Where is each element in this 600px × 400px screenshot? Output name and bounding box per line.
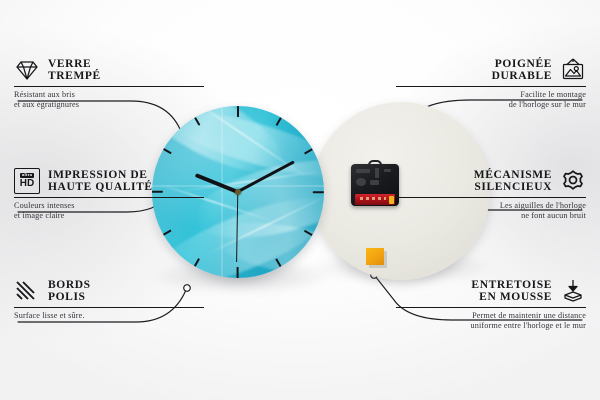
feature-header: VERRE TREMPÉ <box>14 57 204 83</box>
feature-header: ultra HD IMPRESSION DE HAUTE QUALITÉ <box>14 168 204 194</box>
gear-icon <box>560 168 586 194</box>
feature-entretoise-en-mousse: ENTRETOISE EN MOUSSE Permet de maintenir… <box>396 278 586 331</box>
feature-divider <box>14 307 204 308</box>
feature-title-line1: POIGNÉE <box>495 58 552 70</box>
feature-description: Les aiguilles de l'horloge ne font aucun… <box>396 201 586 221</box>
feature-header: MÉCANISME SILENCIEUX <box>396 168 586 194</box>
feature-title-line1: ENTRETOISE <box>471 279 552 291</box>
feature-bords-polis: BORDS POLIS Surface lisse et sûre. <box>14 278 204 321</box>
hd-badge: ultra HD <box>14 168 40 194</box>
feature-title: BORDS POLIS <box>48 279 91 304</box>
infographic-stage: VERRE TREMPÉ Résistant aux bris et aux é… <box>0 0 600 400</box>
hanging-frame-icon <box>560 57 586 83</box>
feature-desc-line2: ne font aucun bruit <box>521 211 586 220</box>
mechanism-detail <box>356 169 370 173</box>
mechanism-detail <box>370 180 379 185</box>
feature-header: BORDS POLIS <box>14 278 204 304</box>
mechanism-detail <box>356 178 366 186</box>
mechanism-detail <box>384 169 391 172</box>
mechanism-detail <box>375 168 379 178</box>
foam-spacer-arrow-icon <box>560 278 586 304</box>
feature-desc-line2: de l'horloge sur le mur <box>509 100 586 109</box>
hands-center-cap <box>235 189 241 195</box>
feature-desc-line1: Les aiguilles de l'horloge <box>500 201 586 210</box>
feature-description: Facilite le montage de l'horloge sur le … <box>396 90 586 110</box>
feature-description: Résistant aux bris et aux égratignures <box>14 90 204 110</box>
feature-title-line1: BORDS <box>48 279 91 291</box>
feature-divider <box>396 86 586 87</box>
feature-title-line2: HAUTE QUALITÉ <box>48 181 153 193</box>
feature-impression-haute-qualite: ultra HD IMPRESSION DE HAUTE QUALITÉ Cou… <box>14 168 204 221</box>
polished-edges-icon <box>14 278 40 304</box>
feature-description: Surface lisse et sûre. <box>14 311 204 321</box>
feature-desc-line1: Couleurs intenses <box>14 201 75 210</box>
feature-desc-line2: et image claire <box>14 211 64 220</box>
feature-title: VERRE TREMPÉ <box>48 58 101 83</box>
feature-title-line2: EN MOUSSE <box>479 291 552 303</box>
feature-divider <box>396 197 586 198</box>
battery-positive-terminal <box>389 196 394 204</box>
hour-marker <box>237 106 239 192</box>
feature-header: POIGNÉE DURABLE <box>396 57 586 83</box>
foam-spacer <box>366 248 384 265</box>
ultra-hd-badge-icon: ultra HD <box>14 168 40 194</box>
feature-title-line2: TREMPÉ <box>48 70 101 82</box>
feature-description: Permet de maintenir une distance uniform… <box>396 311 586 331</box>
feature-divider <box>14 197 204 198</box>
feature-title-line1: VERRE <box>48 58 91 70</box>
diamond-icon <box>14 57 40 83</box>
feature-title: IMPRESSION DE HAUTE QUALITÉ <box>48 169 153 194</box>
feature-title-line1: MÉCANISME <box>474 169 552 181</box>
feature-title-line2: DURABLE <box>492 70 552 82</box>
hour-marker <box>238 191 324 193</box>
feature-title: ENTRETOISE EN MOUSSE <box>471 279 552 304</box>
feature-desc-line1: Permet de maintenir une distance <box>472 311 586 320</box>
feature-divider <box>14 86 204 87</box>
feature-description: Couleurs intenses et image claire <box>14 201 204 221</box>
feature-poignee-durable: POIGNÉE DURABLE Facilite le montage de l… <box>396 57 586 110</box>
feature-title: POIGNÉE DURABLE <box>492 58 552 83</box>
feature-header: ENTRETOISE EN MOUSSE <box>396 278 586 304</box>
battery-label <box>360 197 386 200</box>
feature-title-line1: IMPRESSION DE <box>48 169 148 181</box>
feature-desc-line2: et aux égratignures <box>14 100 79 109</box>
feature-title-line2: POLIS <box>48 291 86 303</box>
clock-mechanism-icon <box>351 160 399 206</box>
feature-title: MÉCANISME SILENCIEUX <box>474 169 552 194</box>
feature-desc-line1: Résistant aux bris <box>14 90 75 99</box>
feature-verre-trempe: VERRE TREMPÉ Résistant aux bris et aux é… <box>14 57 204 110</box>
battery <box>355 194 395 205</box>
feature-desc-line1: Facilite le montage <box>520 90 586 99</box>
mechanism-housing <box>351 164 399 206</box>
feature-desc-line1: Surface lisse et sûre. <box>14 311 85 320</box>
feature-title-line2: SILENCIEUX <box>474 181 552 193</box>
feature-mecanisme-silencieux: MÉCANISME SILENCIEUX Les aiguilles de l'… <box>396 168 586 221</box>
hd-badge-large-text: HD <box>20 179 34 189</box>
feature-desc-line2: uniforme entre l'horloge et le mur <box>471 321 586 330</box>
feature-divider <box>396 307 586 308</box>
